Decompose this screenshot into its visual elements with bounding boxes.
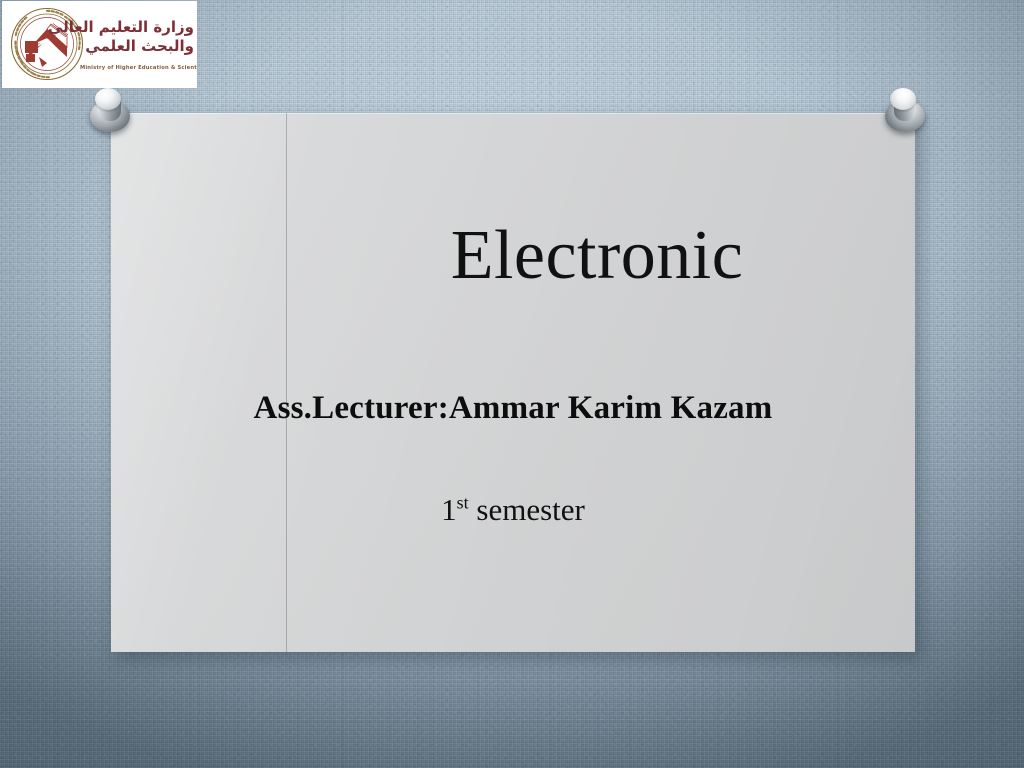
page-title: Electronic — [287, 221, 907, 291]
semester-word: semester — [476, 492, 584, 527]
semester-text: 1st semester — [151, 492, 875, 528]
top-left-pushpin — [87, 88, 133, 134]
pushpin-head-icon — [95, 88, 121, 110]
ministry-english-subtitle: Ministry of Higher Education & Scientifi… — [80, 65, 195, 71]
pushpin-head-icon — [890, 88, 916, 110]
slide-stage: Electronic Ass.Lecturer:Ammar Karim Kaza… — [0, 0, 1024, 768]
semester-number: 1 — [441, 492, 457, 527]
ministry-logo-arabic-text: وزارة التعليم العالي والبحث العلمي — [86, 18, 194, 56]
slide-content: Electronic Ass.Lecturer:Ammar Karim Kaza… — [111, 113, 915, 652]
lecturer-name-text: Ass.Lecturer:Ammar Karim Kazam — [151, 390, 875, 427]
ministry-arabic-line-2: والبحث العلمي — [86, 37, 194, 56]
slide-panel: Electronic Ass.Lecturer:Ammar Karim Kaza… — [111, 113, 915, 652]
semester-ordinal-suffix: st — [457, 493, 469, 513]
top-right-pushpin — [882, 88, 928, 134]
ministry-arabic-line-1: وزارة التعليم العالي — [86, 18, 194, 37]
ministry-logo: وزارة التعليم العالي والبحث العلمي Minis… — [2, 1, 197, 88]
ministry-emblem-icon — [9, 5, 85, 83]
